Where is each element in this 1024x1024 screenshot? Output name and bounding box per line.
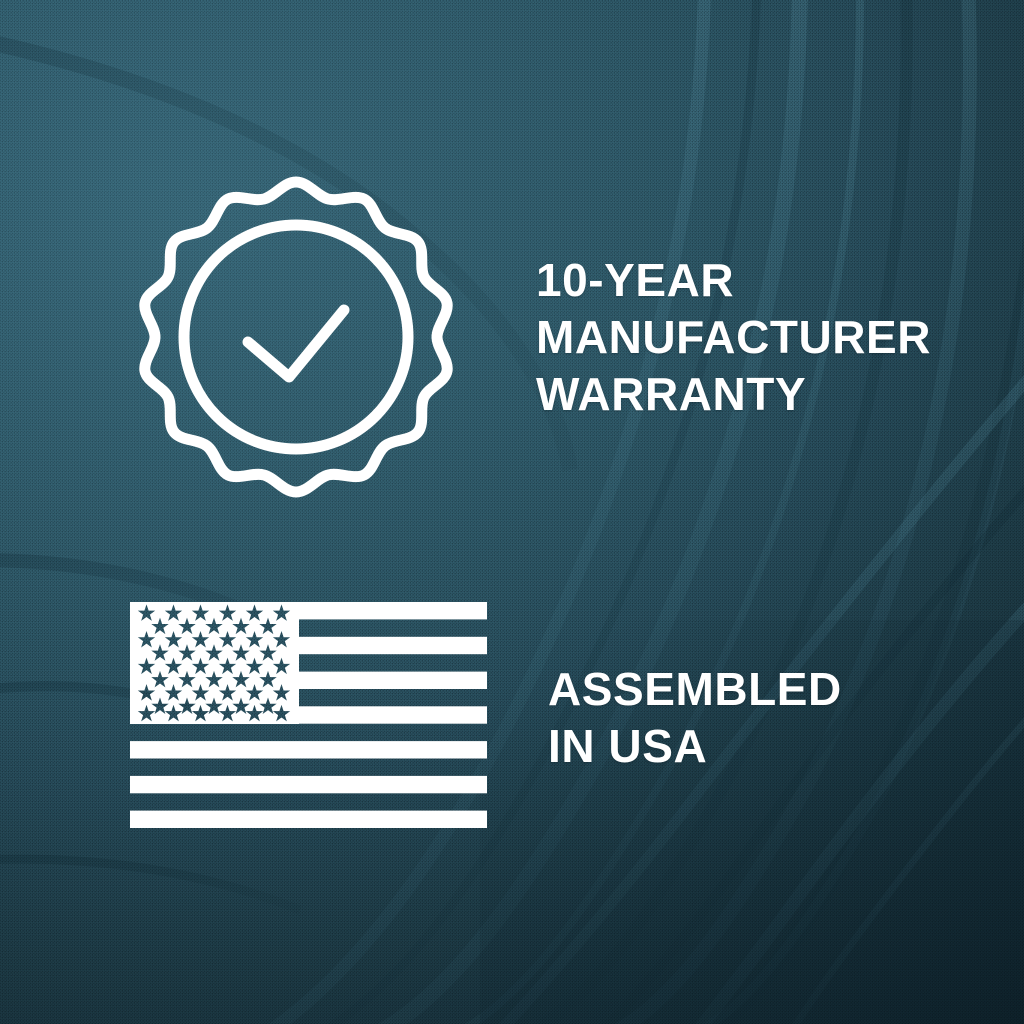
- flag-short-stripes: [299, 602, 487, 724]
- assembled-line-1: ASSEMBLED: [548, 661, 842, 718]
- warranty-line-1: 10-YEAR: [536, 252, 931, 309]
- promo-graphic: 10-YEAR MANUFACTURER WARRANTY: [0, 0, 1024, 1024]
- warranty-badge-check-icon: [126, 174, 466, 514]
- badge-inner-circle: [184, 225, 408, 449]
- assembled-line-2: IN USA: [548, 718, 842, 775]
- assembled-text-block: ASSEMBLED IN USA: [548, 661, 842, 775]
- flag-long-stripes: [130, 741, 487, 828]
- warranty-text-block: 10-YEAR MANUFACTURER WARRANTY: [536, 252, 931, 423]
- us-flag-icon: [130, 602, 487, 828]
- flag-canton: [130, 602, 299, 724]
- warranty-line-3: WARRANTY: [536, 366, 931, 423]
- checkmark-icon: [248, 310, 344, 377]
- warranty-line-2: MANUFACTURER: [536, 309, 931, 366]
